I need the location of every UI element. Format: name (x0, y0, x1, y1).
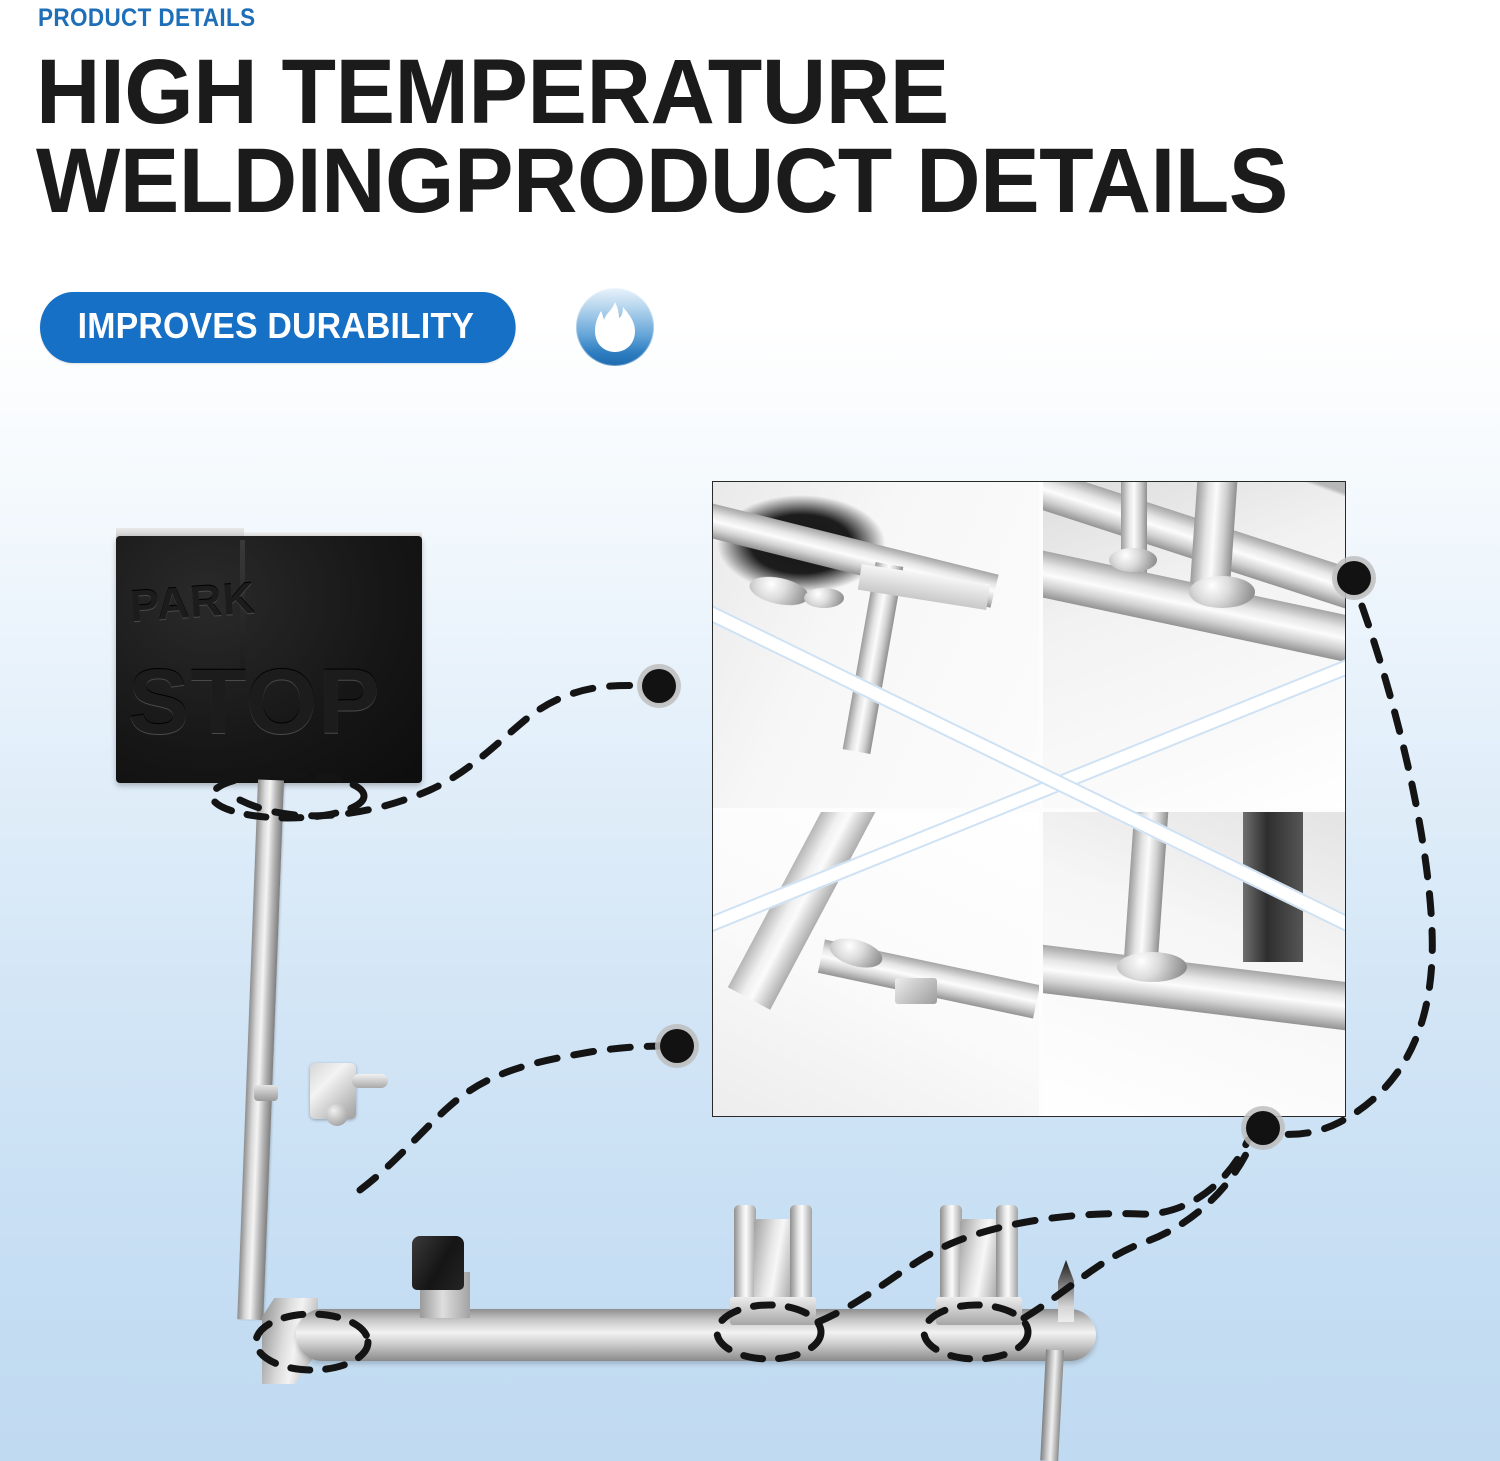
callout-lower-right-weld[interactable] (1246, 1111, 1280, 1145)
callout-pivot-weld[interactable] (660, 1029, 694, 1063)
highlight-ellipse-tube-left (256, 1314, 368, 1370)
callout-pad-weld[interactable] (642, 669, 676, 703)
leader-line-clamp2 (1024, 1146, 1250, 1318)
leader-line-pad (240, 685, 646, 815)
highlight-ellipse-clamp1 (717, 1305, 821, 1359)
callout-upper-right-weld[interactable] (1337, 561, 1371, 595)
leader-line-clamp1 (818, 1140, 1248, 1322)
callout-leaders (0, 0, 1500, 1461)
leader-line-right (1272, 606, 1432, 1134)
leader-line-pivot (360, 1046, 664, 1190)
highlight-ellipse-clamp2 (924, 1305, 1028, 1359)
